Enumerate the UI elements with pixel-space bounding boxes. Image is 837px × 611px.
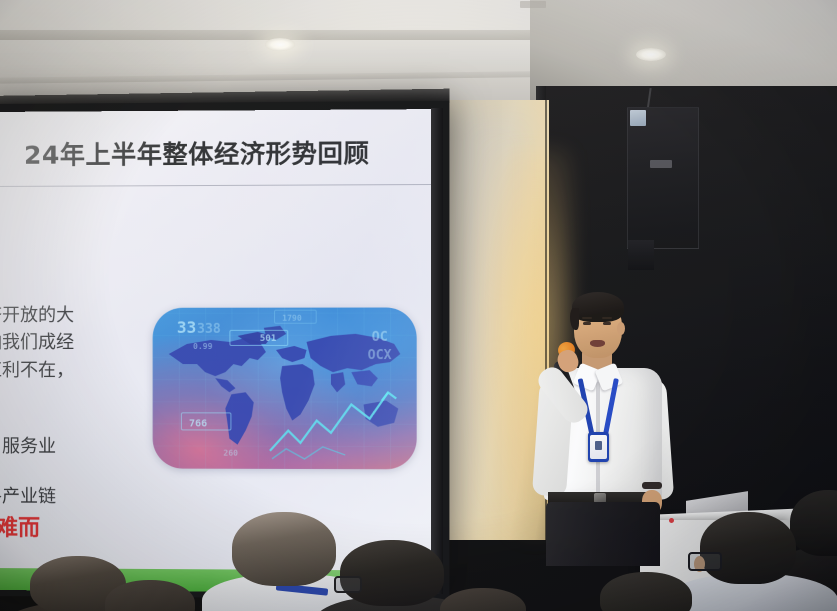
slide-body-line: 蛋糕，怕我们成经 <box>0 329 231 357</box>
downlight-icon <box>636 48 666 61</box>
speaker-logo <box>650 160 672 168</box>
id-badge-photo <box>595 441 602 450</box>
presenter <box>520 286 700 566</box>
audience-head <box>340 540 444 606</box>
ceiling-vent <box>520 1 546 8</box>
slide-body-line: 的是经济开放的大 <box>0 302 231 330</box>
audience-head <box>700 512 796 584</box>
eyeglasses-icon <box>688 552 722 571</box>
slide-body-line: 新能源？服务业 <box>0 433 231 461</box>
slide-body-line: 紧缺 <box>0 384 231 412</box>
audience-head <box>600 572 692 611</box>
presenter-eye-right <box>603 322 611 325</box>
ceiling-beam-secondary <box>0 70 600 83</box>
presenter-hair-side <box>570 308 579 330</box>
audience-head <box>440 588 526 611</box>
slide-title-divider <box>0 184 441 187</box>
presenter-eyebrow-right <box>602 317 612 319</box>
downlight-icon <box>265 38 295 51</box>
presenter-eyebrow-left <box>582 317 592 319</box>
speaker-label-tag <box>630 110 646 126</box>
eyeglasses-icon <box>334 576 362 593</box>
presenter-hair <box>572 292 624 322</box>
projection-screen: 24年上半年整体经济形势回顾 <box>0 109 441 593</box>
wall-speaker-cabinet <box>627 107 699 249</box>
presenter-eye-left <box>583 322 591 325</box>
screen-right-bezel <box>431 108 443 594</box>
slide-body-text: 、 的是经济开放的大 蛋糕，怕我们成经 资源等红利不在， 紧缺 新能源？服务业 … <box>0 284 231 512</box>
slide-body-line: 根源是各产业链 <box>0 483 231 512</box>
wristwatch <box>642 482 662 489</box>
presenter-ear <box>617 322 625 335</box>
slide-title: 24年上半年整体经济形势回顾 <box>24 134 408 172</box>
presenter-trousers <box>546 502 660 566</box>
slide-body-mark: 、 <box>0 284 231 296</box>
presenter-mouth <box>590 340 605 347</box>
speaker-mount-bracket <box>628 240 654 270</box>
slide-red-highlight-text: 更要知难而 <box>0 510 231 544</box>
presentation-photo-scene: 24年上半年整体经济形势回顾 <box>0 0 837 611</box>
slide-body-line: 资源等红利不在， <box>0 357 231 385</box>
audience-head <box>232 512 336 586</box>
